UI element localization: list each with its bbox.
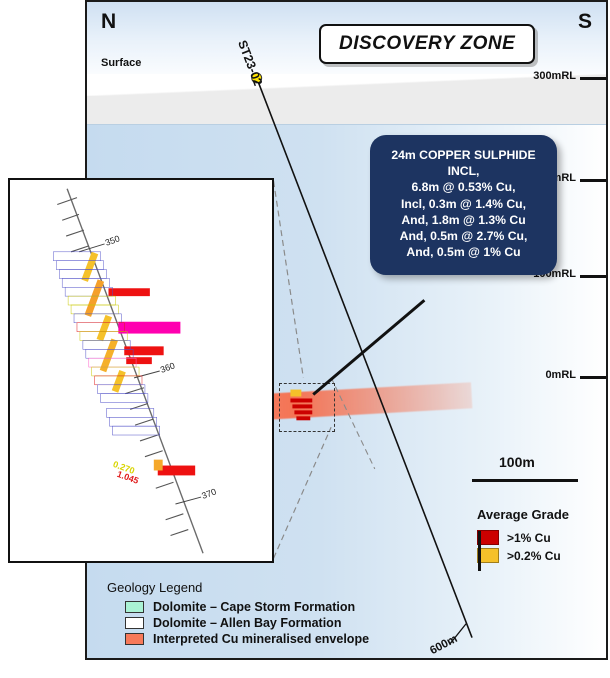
grade-legend-item: >0.2% Cu	[477, 548, 597, 563]
grade-legend-item: >1% Cu	[477, 530, 597, 545]
eoh-label: 600m	[428, 633, 459, 657]
scale-bar-label: 100m	[499, 454, 535, 470]
drillhole-id-label: ST23-02	[235, 38, 265, 87]
inset-depth-labels: 350 360 370	[79, 233, 218, 504]
inset-depth-label: 360	[159, 360, 176, 374]
depth-tick-mark	[580, 376, 606, 379]
geology-legend-label: Interpreted Cu mineralised envelope	[153, 632, 369, 646]
scale-bar	[472, 479, 578, 482]
average-grade-legend: Average Grade >1% Cu>0.2% Cu	[477, 507, 597, 566]
geology-legend-label: Dolomite – Allen Bay Formation	[153, 616, 341, 630]
drillcore-detail-inset: 350 360 370	[8, 178, 274, 563]
geology-color-chip	[125, 601, 144, 613]
intercept-markers	[290, 390, 312, 421]
inset-overlay: 350 360 370	[10, 180, 272, 561]
callout-line: Incl, 0.3m @ 1.4% Cu,	[376, 196, 551, 212]
callout-line: And, 1.8m @ 1.3% Cu	[376, 212, 551, 228]
geology-color-chip	[125, 617, 144, 629]
geology-legend: Geology Legend Dolomite – Cape Storm For…	[107, 580, 369, 648]
callout-line: 24m COPPER SULPHIDE	[376, 147, 551, 163]
geology-legend-item: Dolomite – Cape Storm Formation	[107, 600, 369, 614]
geology-legend-item: Dolomite – Allen Bay Formation	[107, 616, 369, 630]
geology-legend-title: Geology Legend	[107, 580, 369, 595]
callout-line: And, 0.5m @ 2.7% Cu,	[376, 228, 551, 244]
geology-legend-label: Dolomite – Cape Storm Formation	[153, 600, 355, 614]
inset-assay-label: 1.045	[116, 469, 140, 486]
depth-tick-label: 0mRL	[545, 369, 576, 381]
depth-tick-mark	[580, 179, 606, 182]
inset-assay-table	[53, 252, 159, 435]
intercept-callout: 24m COPPER SULPHIDEINCL,6.8m @ 0.53% Cu,…	[370, 135, 557, 275]
callout-lines: 24m COPPER SULPHIDEINCL,6.8m @ 0.53% Cu,…	[376, 147, 551, 261]
grade-legend-label: >1% Cu	[507, 531, 551, 545]
grade-legend-rows: >1% Cu>0.2% Cu	[477, 530, 597, 563]
grade-legend-stem	[478, 531, 481, 571]
geology-legend-item: Interpreted Cu mineralised envelope	[107, 632, 369, 646]
leader-line-bottom	[274, 427, 332, 558]
leader-line-right	[331, 378, 375, 469]
depth-tick-mark	[580, 275, 606, 278]
callout-line: 6.8m @ 0.53% Cu,	[376, 179, 551, 195]
inset-drill-trace	[67, 189, 203, 553]
grade-legend-label: >0.2% Cu	[507, 549, 561, 563]
average-grade-title: Average Grade	[477, 507, 597, 522]
depth-tick-mark	[580, 77, 606, 80]
geology-color-chip	[125, 633, 144, 645]
callout-line: INCL,	[376, 163, 551, 179]
callout-pointer	[313, 300, 424, 394]
geology-legend-rows: Dolomite – Cape Storm FormationDolomite …	[107, 600, 369, 646]
depth-tick-label: 300mRL	[533, 70, 576, 82]
inset-depth-label: 350	[104, 233, 121, 247]
inset-depth-label: 370	[200, 486, 217, 500]
callout-line: And, 0.5m @ 1% Cu	[376, 244, 551, 260]
leader-line-top	[274, 181, 304, 377]
